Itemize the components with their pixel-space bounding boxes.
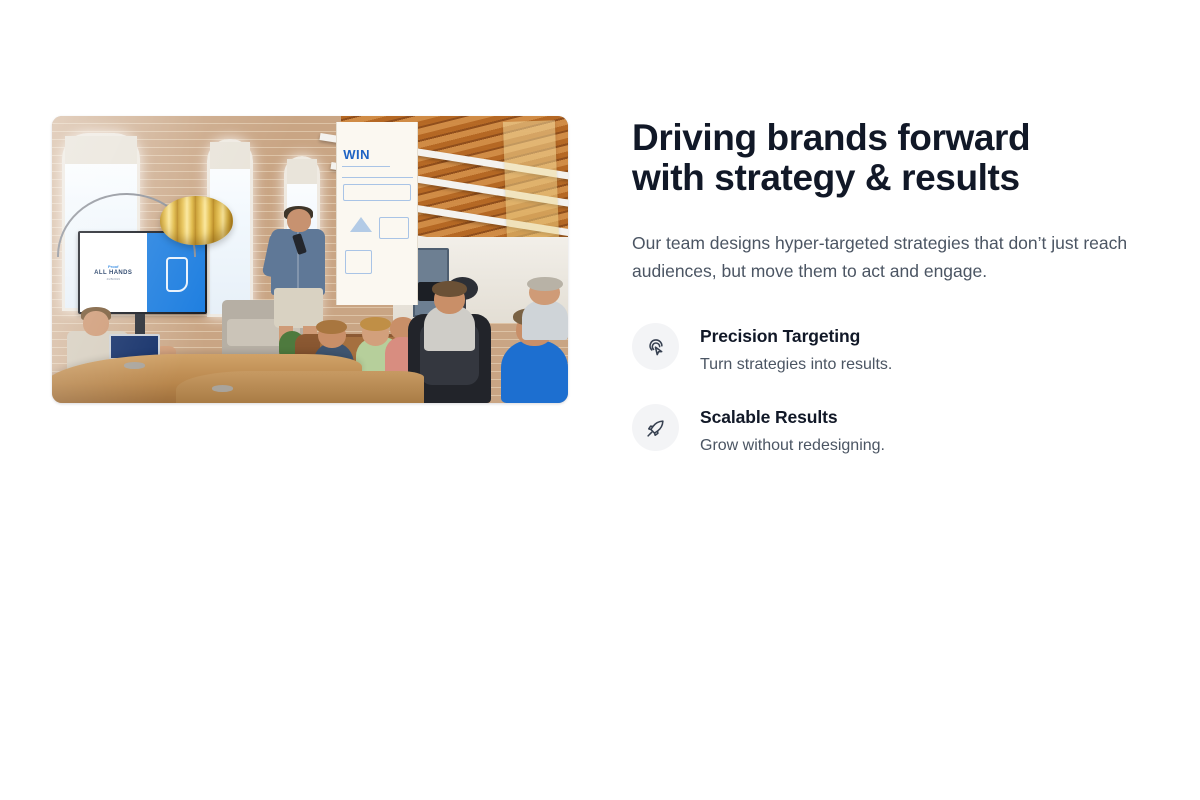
feature-list: Precision Targeting Turn strategies into… (632, 325, 1148, 456)
seated-man-head (83, 311, 109, 335)
presenter-head (287, 209, 311, 232)
gold-pendant-lamp (160, 196, 232, 245)
mural-line (342, 177, 413, 178)
audience-hair (316, 320, 347, 334)
cursor-click-signal-icon (632, 323, 679, 370)
hero-image: WIN Proof ALL HANDS 4/28/2019 (52, 116, 568, 403)
feature-text: Precision Targeting Turn strategies into… (700, 325, 892, 375)
feature-item-scalable-results: Scalable Results Grow without redesignin… (632, 406, 1148, 456)
rocket-growth-arrow-icon (632, 404, 679, 451)
mural-line (342, 166, 390, 167)
marketing-hero-section: WIN Proof ALL HANDS 4/28/2019 (0, 0, 1200, 800)
window-shade (287, 159, 317, 184)
headline-line-1: Driving brands forward (632, 117, 1030, 158)
office-meeting-photo: WIN Proof ALL HANDS 4/28/2019 (52, 116, 568, 403)
feature-item-precision-targeting: Precision Targeting Turn strategies into… (632, 325, 1148, 375)
window-shade (65, 136, 136, 164)
mural-box (345, 250, 372, 274)
page-title: Driving brands forward with strategy & r… (632, 118, 1132, 198)
slide-brand: Proof (108, 264, 118, 269)
mural-triangle (350, 217, 372, 232)
hero-subheadline: Our team designs hyper-targeted strategi… (632, 229, 1148, 285)
audience-hair (527, 277, 563, 291)
feature-text: Scalable Results Grow without redesignin… (700, 406, 885, 456)
feature-description: Turn strategies into results. (700, 355, 892, 375)
audience-hair (432, 281, 467, 297)
wall-mural: WIN (336, 122, 419, 306)
slide-title: ALL HANDS (94, 270, 132, 276)
feature-title: Scalable Results (700, 406, 885, 428)
presenter-shorts (274, 288, 323, 328)
table-puck (212, 385, 233, 391)
mural-win-text: WIN (343, 147, 370, 162)
feature-title: Precision Targeting (700, 325, 892, 347)
mural-banner (343, 184, 411, 201)
table-puck (124, 362, 145, 368)
hero-layout: WIN Proof ALL HANDS 4/28/2019 (52, 116, 1148, 456)
feature-description: Grow without redesigning. (700, 436, 885, 456)
audience-member (522, 300, 568, 340)
headline-line-2: with strategy & results (632, 157, 1020, 198)
slide-subtitle: 4/28/2019 (107, 277, 120, 281)
audience-hair (360, 317, 391, 331)
hero-content: Driving brands forward with strategy & r… (632, 116, 1148, 456)
window-shade (210, 142, 250, 170)
mural-box (379, 217, 410, 239)
audience-member (501, 340, 568, 403)
